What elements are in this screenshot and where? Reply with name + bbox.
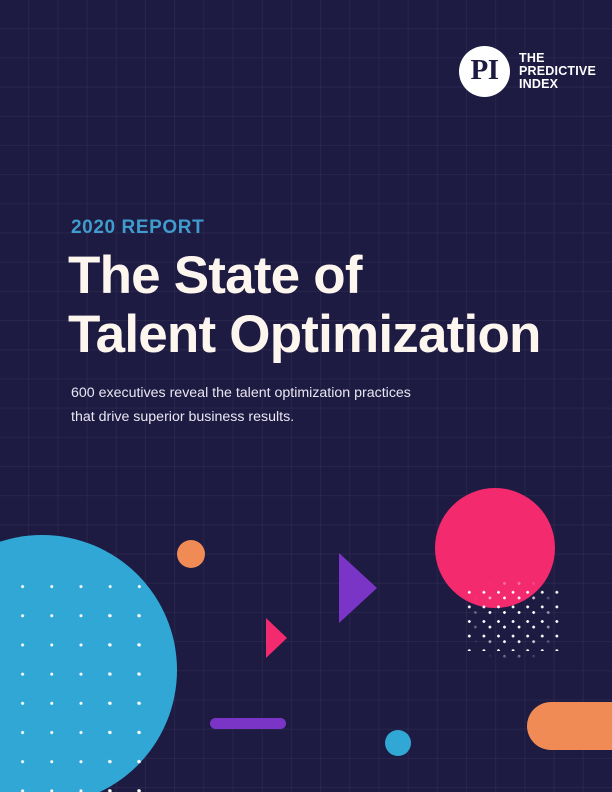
page-title-line-1: The State of [68,246,362,305]
pi-logo-icon: PI [459,46,510,97]
page-subtitle: 600 executives reveal the talent optimiz… [71,381,501,430]
orange-pill-decoration [527,702,612,750]
dot-grid-left-extra-decoration [95,601,155,792]
report-eyebrow: 2020 REPORT [71,217,204,239]
purple-triangle-decoration [339,553,377,623]
purple-bar-decoration [210,718,286,729]
pi-logo-monogram: PI [471,56,499,85]
page-title: The State of Talent Optimization [68,247,568,365]
page-title-line-2: Talent Optimization [68,306,568,365]
dot-grid-right-inner-decoration [468,576,560,664]
orange-circle-decoration [177,540,205,568]
brand-logo-line-3: INDEX [519,78,596,91]
page-subtitle-line-2: that drive superior business results. [71,405,501,429]
brand-logo-wordmark: THE PREDICTIVE INDEX [519,52,596,90]
brand-logo-line-2: PREDICTIVE [519,65,596,78]
pink-triangle-decoration [266,618,287,658]
brand-logo: PI THE PREDICTIVE INDEX [459,46,596,97]
cyan-circle-decoration [385,730,411,756]
report-cover-page: PI THE PREDICTIVE INDEX 2020 REPORT The … [0,0,612,792]
page-subtitle-line-1: 600 executives reveal the talent optimiz… [71,385,411,401]
